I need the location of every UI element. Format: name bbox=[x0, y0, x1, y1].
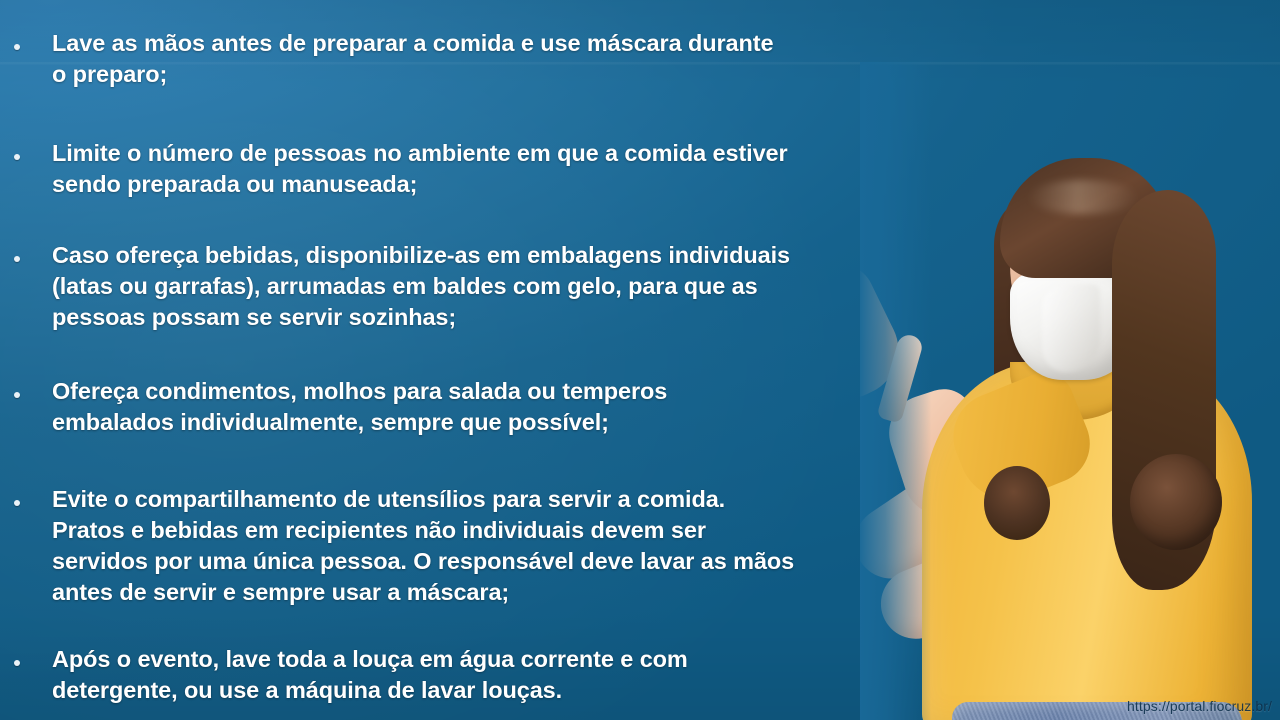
bullet-dot-icon bbox=[14, 660, 20, 666]
guideline-bullet-list: Lave as mãos antes de preparar a comida … bbox=[0, 0, 960, 720]
list-item-text: Limite o número de pessoas no ambiente e… bbox=[52, 138, 932, 200]
slide-canvas: Lave as mãos antes de preparar a comida … bbox=[0, 0, 1280, 720]
bullet-dot-icon bbox=[14, 44, 20, 50]
bullet-dot-icon bbox=[14, 500, 20, 506]
list-item-text: Ofereça condimentos, molhos para salada … bbox=[52, 376, 932, 438]
source-url-text: https://portal.fiocruz.br/ bbox=[1127, 698, 1272, 714]
bullet-dot-icon bbox=[14, 256, 20, 262]
list-item-text: Lave as mãos antes de preparar a comida … bbox=[52, 28, 932, 90]
bullet-dot-icon bbox=[14, 392, 20, 398]
list-item-text: Evite o compartilhamento de utensílios p… bbox=[52, 484, 932, 608]
bullet-dot-icon bbox=[14, 154, 20, 160]
list-item-text: Caso ofereça bebidas, disponibilize-as e… bbox=[52, 240, 932, 333]
list-item-text: Após o evento, lave toda a louça em água… bbox=[52, 644, 932, 706]
